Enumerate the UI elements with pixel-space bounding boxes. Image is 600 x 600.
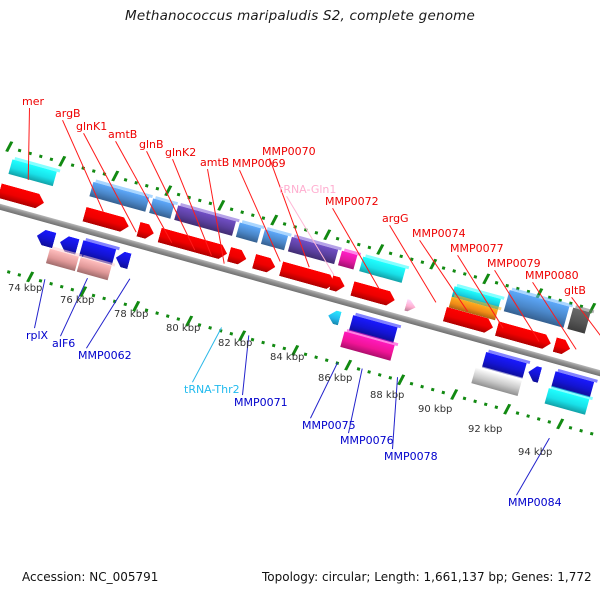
ruler-major-tick <box>344 360 352 371</box>
gene-feature[interactable] <box>567 308 590 334</box>
ruler-tick-label: 74 kbp <box>8 283 42 294</box>
gene-feature[interactable] <box>77 257 112 280</box>
ruler-minor-dot <box>230 207 234 211</box>
ruler-minor-dot <box>71 163 75 167</box>
leader-line <box>392 377 398 449</box>
ruler-minor-dot <box>378 373 382 377</box>
gene-feature[interactable] <box>35 228 57 248</box>
ruler-minor-dot <box>325 358 329 362</box>
trna-label-trna-thr2[interactable]: tRNA-Thr2 <box>184 384 240 395</box>
ruler-minor-dot <box>282 347 286 351</box>
gene-label-gltb[interactable]: gltB <box>564 285 586 296</box>
ruler-major-tick <box>397 374 405 385</box>
ruler-tick-label: 94 kbp <box>518 447 552 458</box>
ruler-major-tick <box>5 141 13 152</box>
gene-feature-highlight <box>120 248 135 255</box>
gene-label-glnk1[interactable]: glnK1 <box>76 121 107 132</box>
ruler-minor-dot <box>590 432 594 436</box>
ruler-major-tick <box>270 215 278 226</box>
ruler-minor-dot <box>569 426 573 430</box>
ruler-minor-dot <box>177 193 181 197</box>
ruler-major-tick <box>58 156 66 167</box>
gene-label-glnk2[interactable]: glnK2 <box>165 147 196 158</box>
ruler-minor-dot <box>579 429 583 433</box>
ruler-major-tick <box>376 244 384 255</box>
ruler-minor-dot <box>410 382 414 386</box>
gene-feature-highlight <box>409 297 420 303</box>
gene-feature-highlight <box>41 226 60 234</box>
ruler-major-tick <box>26 272 34 283</box>
ruler-minor-dot <box>315 231 319 235</box>
gene-feature[interactable] <box>526 364 542 383</box>
ruler-minor-dot <box>495 281 499 285</box>
gene-label-amtb[interactable]: amtB <box>200 157 229 168</box>
ruler-minor-dot <box>50 157 54 161</box>
ruler-minor-dot <box>155 311 159 315</box>
ruler-minor-dot <box>399 254 403 258</box>
ruler-minor-dot <box>209 202 213 206</box>
locus-label-mmp0076[interactable]: MMP0076 <box>340 435 394 446</box>
ruler-minor-dot <box>452 269 456 273</box>
leader-line <box>192 327 222 382</box>
ruler-minor-dot <box>124 178 128 182</box>
ruler-minor-dot <box>368 246 372 250</box>
ruler-minor-dot <box>176 317 180 321</box>
ruler-minor-dot <box>49 282 53 286</box>
locus-label-mmp0069[interactable]: MMP0069 <box>232 158 286 169</box>
ruler-minor-dot <box>420 385 424 389</box>
ruler-major-tick <box>111 171 119 182</box>
ruler-major-tick <box>482 273 490 284</box>
gene-feature[interactable] <box>404 299 417 313</box>
ruler-minor-dot <box>463 272 467 276</box>
ruler-minor-dot <box>336 237 340 241</box>
ruler-tick-label: 90 kbp <box>418 404 452 415</box>
gene-feature-highlight <box>233 245 252 253</box>
ruler-major-tick <box>323 229 331 240</box>
gene-feature-highlight <box>142 220 159 227</box>
ruler-minor-dot <box>92 169 96 173</box>
ruler-tick-label: 76 kbp <box>60 295 94 306</box>
locus-label-mmp0077[interactable]: MMP0077 <box>450 243 504 254</box>
ruler-minor-dot <box>357 367 361 371</box>
ruler-tick-label: 84 kbp <box>270 352 304 363</box>
locus-label-mmp0084[interactable]: MMP0084 <box>508 497 562 508</box>
ruler-minor-dot <box>474 275 478 279</box>
ruler-minor-dot <box>261 341 265 345</box>
status-bar: Accession: NC_005791 Topology: circular;… <box>0 570 600 590</box>
ruler-minor-dot <box>547 420 551 424</box>
ruler-minor-dot <box>39 155 43 159</box>
locus-label-mmp0074[interactable]: MMP0074 <box>412 228 466 239</box>
ruler-major-tick <box>503 404 511 415</box>
ruler-minor-dot <box>389 252 393 256</box>
ruler-minor-dot <box>484 402 488 406</box>
ruler-minor-dot <box>526 414 530 418</box>
ruler-minor-dot <box>516 411 520 415</box>
ruler-minor-dot <box>421 260 425 264</box>
gene-feature-highlight <box>532 362 545 368</box>
ruler-tick-label: 82 kbp <box>218 338 252 349</box>
page-title: Methanococcus maripaludis S2, complete g… <box>0 8 600 24</box>
gene-label-glnb[interactable]: glnB <box>139 139 164 150</box>
ruler-minor-dot <box>346 240 350 244</box>
gene-feature[interactable] <box>136 222 155 241</box>
gene-label-mer[interactable]: mer <box>22 96 44 107</box>
ruler-minor-dot <box>60 285 64 289</box>
locus-label-mmp0079[interactable]: MMP0079 <box>487 258 541 269</box>
ruler-minor-dot <box>283 222 287 226</box>
genome-viewer: Methanococcus maripaludis S2, complete g… <box>0 0 600 600</box>
locus-label-mmp0062[interactable]: MMP0062 <box>78 350 132 361</box>
locus-label-mmp0071[interactable]: MMP0071 <box>234 397 288 408</box>
ruler-minor-dot <box>494 405 498 409</box>
locus-label-mmp0080[interactable]: MMP0080 <box>525 270 579 281</box>
ruler-tick-label: 88 kbp <box>370 390 404 401</box>
ruler-major-tick <box>556 419 564 430</box>
ruler-minor-dot <box>272 344 276 348</box>
topology-text: Topology: circular; Length: 1,661,137 bp… <box>262 570 592 584</box>
gene-feature[interactable] <box>236 222 261 242</box>
gene-label-argg[interactable]: argG <box>382 213 409 224</box>
ruler-minor-dot <box>442 266 446 270</box>
gene-label-amtb[interactable]: amtB <box>108 129 137 140</box>
ruler-minor-dot <box>431 388 435 392</box>
gene-feature[interactable] <box>46 249 79 271</box>
ruler-major-tick <box>450 389 458 400</box>
leader-line <box>310 362 338 418</box>
ruler-minor-dot <box>17 273 21 277</box>
gene-label-rplx[interactable]: rplX <box>26 330 48 341</box>
locus-label-mmp0078[interactable]: MMP0078 <box>384 451 438 462</box>
ruler-minor-dot <box>7 270 11 274</box>
ruler-minor-dot <box>473 400 477 404</box>
ruler-minor-dot <box>123 302 127 306</box>
ruler-minor-dot <box>537 417 541 421</box>
locus-label-mmp0070[interactable]: MMP0070 <box>262 146 316 157</box>
ruler-minor-dot <box>156 187 160 191</box>
ruler-minor-dot <box>441 391 445 395</box>
gene-label-aif6[interactable]: aIF6 <box>52 338 75 349</box>
trna-label-trna-gln1[interactable]: tRNA-Gln1 <box>279 184 336 195</box>
ruler-minor-dot <box>367 370 371 374</box>
ruler-tick-label: 78 kbp <box>114 309 148 320</box>
ruler-minor-dot <box>229 332 233 336</box>
locus-label-mmp0072[interactable]: MMP0072 <box>325 196 379 207</box>
ruler-minor-dot <box>388 376 392 380</box>
gene-feature[interactable] <box>326 309 341 326</box>
gene-feature-highlight <box>332 306 345 312</box>
gene-feature[interactable] <box>252 254 277 274</box>
ruler-minor-dot <box>463 397 467 401</box>
ruler-minor-dot <box>102 297 106 301</box>
ruler-minor-dot <box>145 184 149 188</box>
ruler-minor-dot <box>357 243 361 247</box>
gene-feature[interactable] <box>227 247 248 266</box>
gene-label-argb[interactable]: argB <box>55 108 81 119</box>
ruler-minor-dot <box>208 326 212 330</box>
gene-feature[interactable] <box>114 250 132 269</box>
locus-label-mmp0075[interactable]: MMP0075 <box>302 420 356 431</box>
ruler-major-tick <box>217 200 225 211</box>
ruler-minor-dot <box>70 288 74 292</box>
gene-feature[interactable] <box>338 251 357 270</box>
ruler-tick-label: 86 kbp <box>318 373 352 384</box>
ruler-tick-label: 92 kbp <box>468 424 502 435</box>
ruler-minor-dot <box>240 210 244 214</box>
ruler-minor-dot <box>251 213 255 217</box>
gene-feature-highlight <box>64 232 83 240</box>
gene-feature-highlight <box>335 273 350 280</box>
ruler-minor-dot <box>198 199 202 203</box>
ruler-minor-dot <box>314 355 318 359</box>
accession-text: Accession: NC_005791 <box>22 570 158 584</box>
ruler-minor-dot <box>166 314 170 318</box>
ruler-minor-dot <box>18 149 22 153</box>
ruler-tick-label: 80 kbp <box>166 323 200 334</box>
